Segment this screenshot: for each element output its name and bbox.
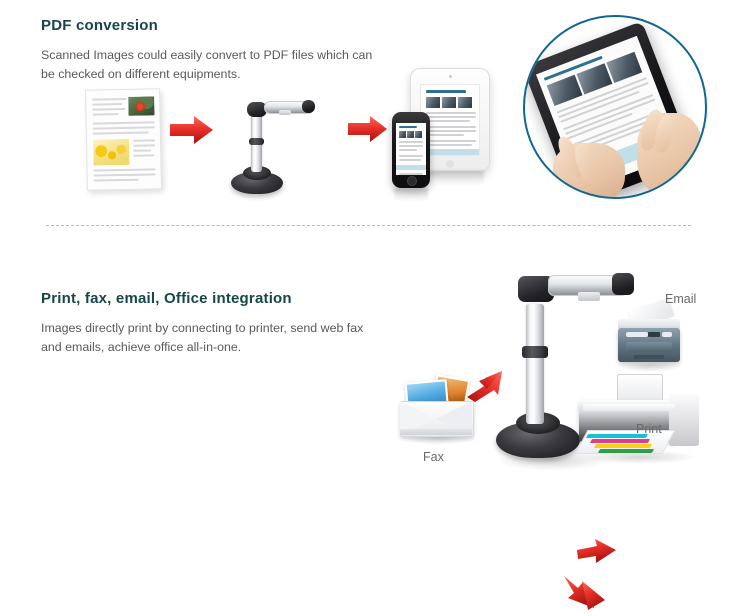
section-heading-pdf: PDF conversion: [41, 17, 158, 34]
scanned-document-page: [85, 88, 162, 190]
red-arrow-to-email: [577, 538, 617, 566]
section-heading-office: Print, fax, email, Office integration: [41, 290, 292, 307]
document-scanner-1: [219, 88, 315, 198]
section-pdf-conversion: PDF conversion Scanned Images could easi…: [0, 0, 749, 225]
caption-print: Print: [636, 422, 662, 436]
section-print-fax-email: Print, fax, email, Office integration Im…: [0, 226, 749, 469]
phone-reflection: [394, 188, 428, 202]
print-printer-icon: [573, 374, 703, 464]
phone-home-button[interactable]: [407, 176, 417, 186]
section-body-office: Images directly print by connecting to p…: [41, 319, 386, 357]
black-smartphone-device: [392, 112, 430, 188]
caption-email: Email: [665, 292, 696, 306]
red-arrow-to-print: [562, 574, 606, 616]
circle-inset-hands-tablet: [523, 15, 707, 199]
red-arrow-right-1: [170, 115, 214, 145]
tablet-doc-title: [426, 90, 466, 93]
section-body-pdf: Scanned Images could easily convert to P…: [41, 46, 386, 84]
red-arrow-right-2: [348, 115, 388, 143]
email-copier-icon: [614, 304, 686, 372]
document-photo-sunflower: [93, 139, 129, 166]
caption-fax: Fax: [423, 450, 444, 464]
document-photo-rose: [128, 96, 154, 115]
phone-screen: [396, 123, 426, 175]
promo-page: PDF conversion Scanned Images could easi…: [0, 0, 749, 469]
fax-envelope-icon: [396, 371, 478, 443]
